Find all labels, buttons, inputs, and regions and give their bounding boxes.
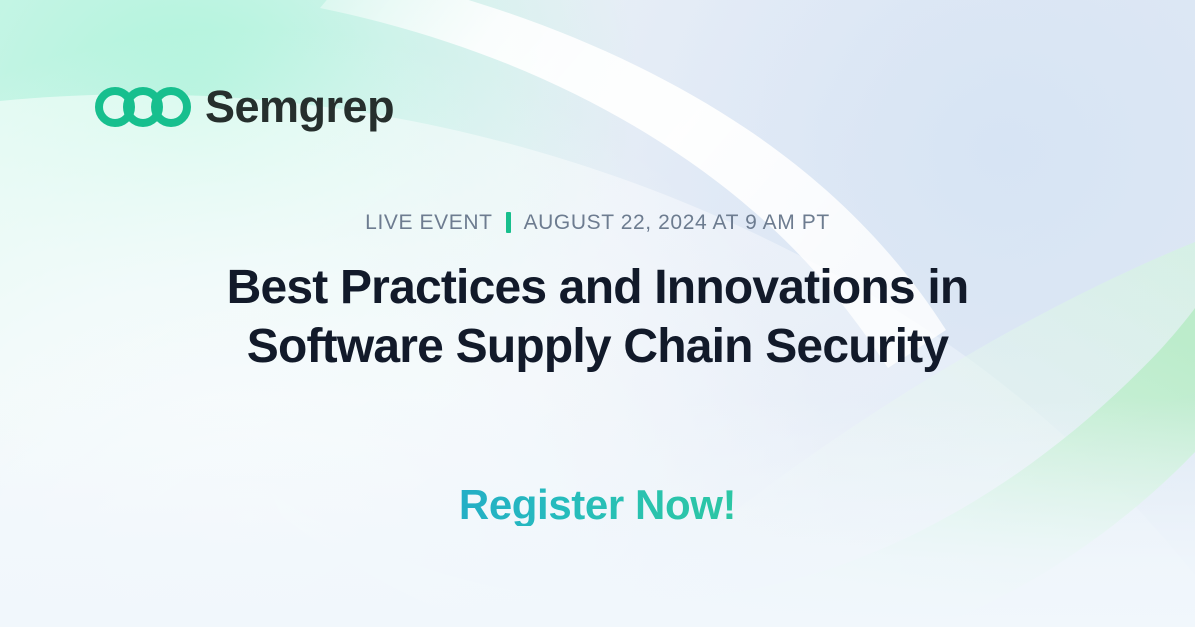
event-banner: Semgrep LIVE EVENT AUGUST 22, 2024 AT 9 … [0,0,1195,627]
vertical-bar-icon [506,212,511,233]
page-title: Best Practices and Innovations in Softwa… [0,259,1195,376]
event-date: AUGUST 22, 2024 AT 9 AM PT [524,212,830,233]
banner-content: LIVE EVENT AUGUST 22, 2024 AT 9 AM PT Be… [0,212,1195,526]
event-meta: LIVE EVENT AUGUST 22, 2024 AT 9 AM PT [0,212,1195,233]
headline-line-1: Best Practices and Innovations in [0,259,1195,318]
semgrep-wordmark: Semgrep [205,84,394,129]
semgrep-logo[interactable]: Semgrep [95,84,394,129]
headline-line-2: Software Supply Chain Security [0,318,1195,377]
three-rings-icon [95,85,191,129]
cta-row: Register Now! [0,408,1195,526]
event-type-label: LIVE EVENT [365,212,492,233]
register-now-link[interactable]: Register Now! [459,484,736,526]
